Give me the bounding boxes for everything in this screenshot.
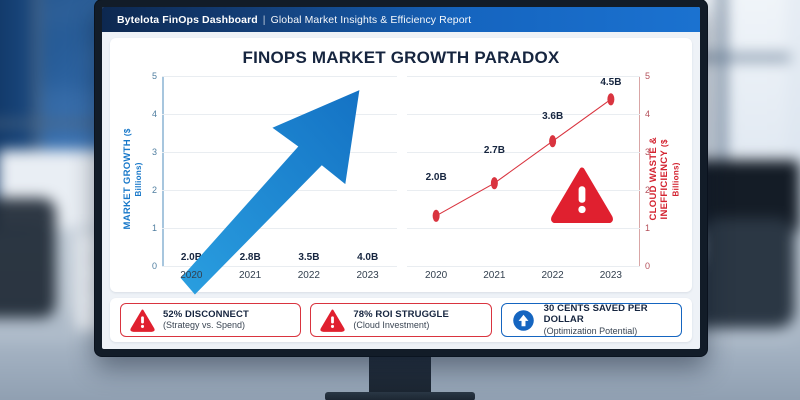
- y-tick-label: 4: [645, 109, 650, 119]
- bar-plot-area: 543210 2.0B2.8B3.5B4.0B: [162, 76, 397, 266]
- bar-x-axis-labels: 2020202120222023: [162, 266, 397, 281]
- office-chair: [0, 198, 56, 318]
- line-value-label: 4.5B: [600, 77, 621, 88]
- y-tick-label: 5: [645, 71, 650, 81]
- x-tick-label: 2020: [407, 270, 465, 281]
- line-plot-area: 543210 2.0B2.7B3.6B4.5B 2020202120222023: [407, 76, 640, 266]
- y-tick-label: 4: [152, 109, 157, 119]
- warning-triangle-icon: [551, 167, 613, 223]
- bar-y-axis-title: MARKET GROWTH ($ Billions): [122, 125, 144, 234]
- callout-text: 78% ROI STRUGGLE(Cloud Investment): [353, 310, 449, 331]
- bar-value-label: 4.0B: [357, 252, 378, 263]
- line-value-label: 2.0B: [426, 172, 447, 183]
- y-tick-label: 5: [152, 71, 157, 81]
- y-tick-label: 0: [152, 261, 157, 271]
- bar-value-label: 3.5B: [298, 252, 319, 263]
- line-chart-panel: CLOUD WASTE & INEFFICIENCY ($ Billions) …: [401, 70, 684, 288]
- callout-subtext: (Optimization Potential): [544, 326, 672, 336]
- warning-triangle-icon: [320, 309, 345, 332]
- line-data-point[interactable]: [491, 177, 498, 189]
- monitor-bezel: Bytelota FinOps Dashboard | Global Marke…: [95, 0, 707, 356]
- callout-card-1[interactable]: 52% DISCONNECT(Strategy vs. Spend): [120, 303, 301, 337]
- title-separator: |: [263, 14, 266, 26]
- y-tick-label: 3: [645, 147, 650, 157]
- callout-subtext: (Strategy vs. Spend): [163, 320, 249, 330]
- charts-area: MARKET GROWTH ($ Billions) 543210 2.0B2.…: [118, 70, 684, 288]
- line-x-axis-labels: 2020202120222023: [407, 266, 640, 281]
- x-tick-label: 2021: [465, 270, 523, 281]
- line-data-point[interactable]: [433, 210, 440, 222]
- y-tick-label: 1: [645, 223, 650, 233]
- y-tick-label: 0: [645, 261, 650, 271]
- chart-card: FINOPS MARKET GROWTH PARADOX MARKET GROW…: [110, 38, 692, 292]
- y-tick-label: 1: [152, 223, 157, 233]
- line-y-axis-title: CLOUD WASTE & INEFFICIENCY ($ Billions): [648, 125, 682, 234]
- monitor-screen: Bytelota FinOps Dashboard | Global Marke…: [102, 7, 700, 349]
- report-subtitle: Global Market Insights & Efficiency Repo…: [271, 14, 472, 26]
- x-tick-label: 2020: [162, 270, 221, 281]
- x-tick-label: 2022: [524, 270, 582, 281]
- bar-value-label: 2.8B: [240, 252, 261, 263]
- dashboard-titlebar: Bytelota FinOps Dashboard | Global Marke…: [102, 7, 700, 32]
- y-tick-label: 2: [645, 185, 650, 195]
- brand-title: Bytelota FinOps Dashboard: [117, 14, 258, 26]
- callout-headline: 78% ROI STRUGGLE: [353, 310, 449, 321]
- x-tick-label: 2023: [582, 270, 640, 281]
- arrow-up-circle-icon: [511, 309, 536, 332]
- bar-chart-panel: MARKET GROWTH ($ Billions) 543210 2.0B2.…: [118, 70, 401, 288]
- callout-subtext: (Cloud Investment): [353, 320, 449, 330]
- x-tick-label: 2021: [221, 270, 280, 281]
- y-tick-label: 2: [152, 185, 157, 195]
- x-tick-label: 2023: [338, 270, 397, 281]
- warning-triangle-icon: [130, 309, 155, 332]
- callout-text: 30 CENTS SAVED PER DOLLAR(Optimization P…: [544, 304, 672, 335]
- x-tick-label: 2022: [280, 270, 339, 281]
- callout-headline: 52% DISCONNECT: [163, 310, 249, 321]
- line-value-label: 2.7B: [484, 145, 505, 156]
- bar-value-label: 2.0B: [181, 252, 202, 263]
- callout-text: 52% DISCONNECT(Strategy vs. Spend): [163, 310, 249, 331]
- chart-title: FINOPS MARKET GROWTH PARADOX: [118, 48, 684, 68]
- bar-y-axis-label: MARKET GROWTH: [122, 139, 133, 229]
- line-y-axis-label: CLOUD WASTE & INEFFICIENCY: [648, 137, 670, 221]
- line-data-point[interactable]: [549, 135, 556, 147]
- line-value-label: 3.6B: [542, 111, 563, 122]
- line-data-point[interactable]: [607, 93, 614, 105]
- y-tick-label: 3: [152, 147, 157, 157]
- monitor-stand-base: [325, 392, 475, 400]
- dashboard-body: FINOPS MARKET GROWTH PARADOX MARKET GROW…: [102, 32, 700, 349]
- bar-series: 2.0B2.8B3.5B4.0B: [162, 76, 397, 266]
- monitor-stand-neck: [369, 356, 431, 394]
